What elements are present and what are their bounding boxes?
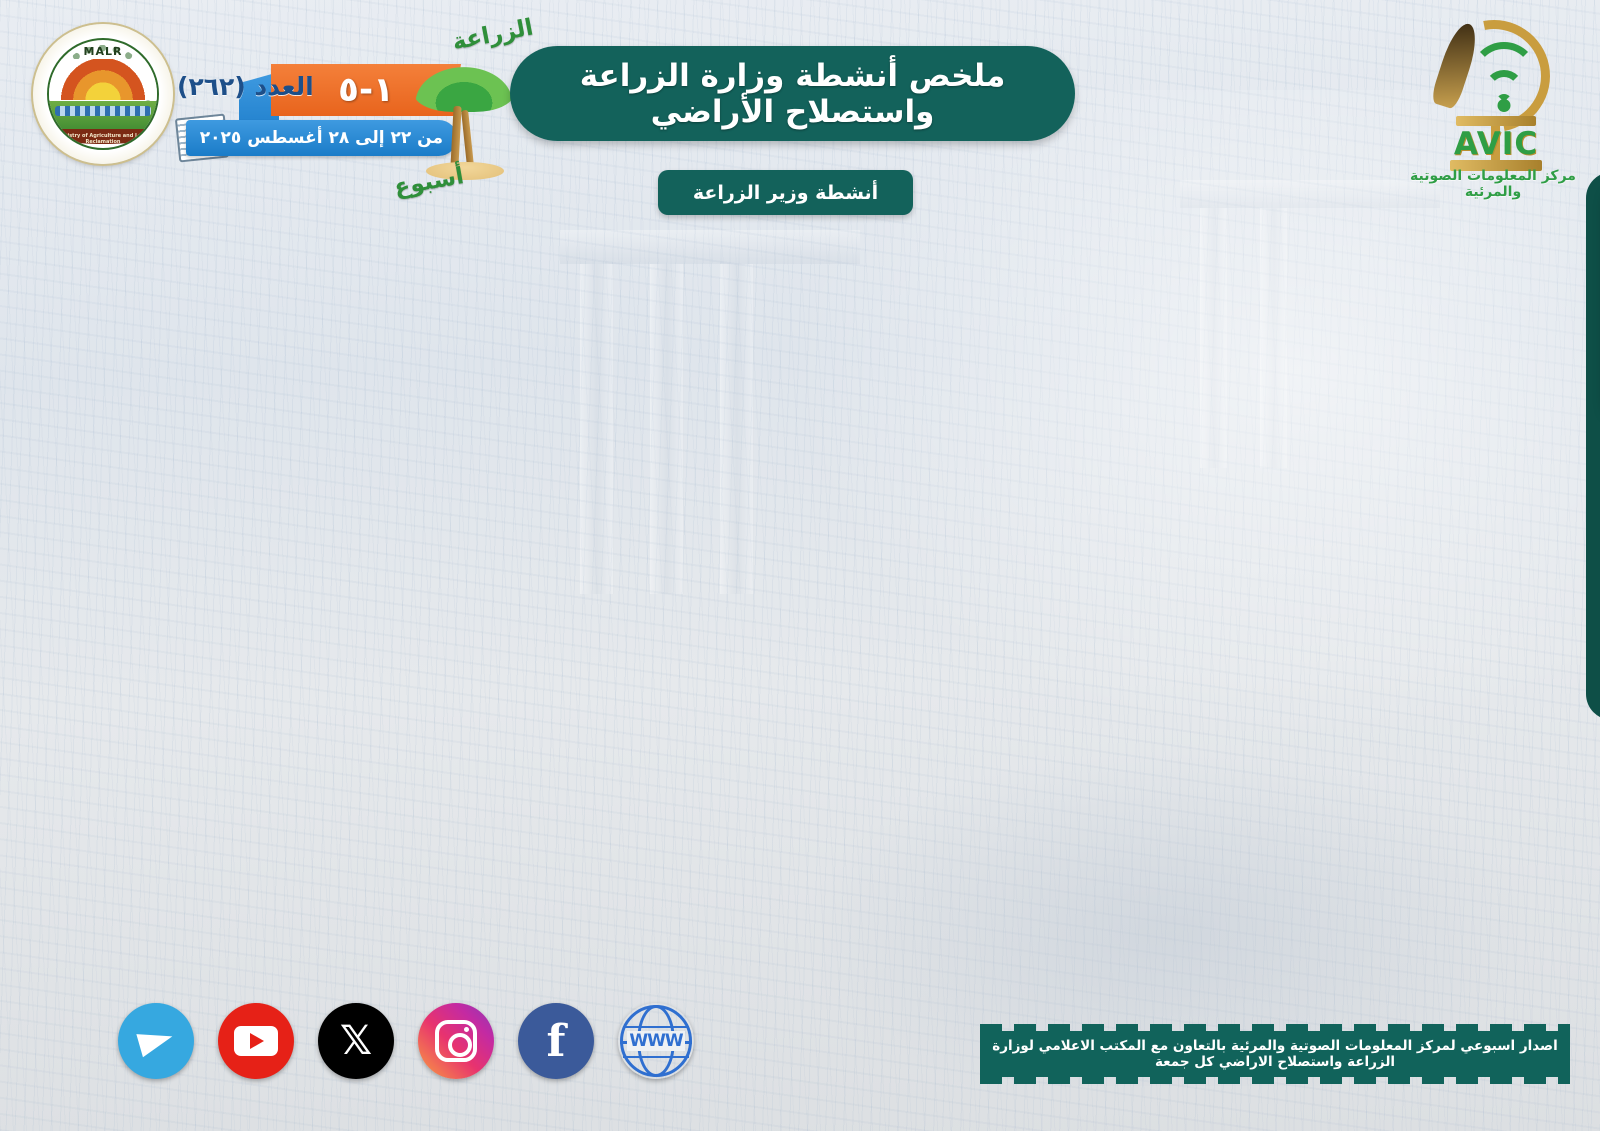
infographic-poster: MALR Ministry of Agriculture and Land Re…: [0, 0, 1600, 1131]
page-title-text: ملخص أنشطة وزارة الزراعة واستصلاح الأراض…: [510, 58, 1075, 130]
footer-note-text: اصدار اسبوعي لمركز المعلومات الصوتية وال…: [990, 1038, 1560, 1070]
facebook-icon-label: f: [547, 1016, 566, 1067]
youtube-icon[interactable]: [218, 1003, 294, 1079]
avic-subtitle: مركز المعلومات الصوتية والمرئية: [1398, 168, 1588, 200]
story-1-backdrop: [1586, 172, 1600, 720]
website-icon-label: WWW: [627, 1031, 684, 1051]
footer-note-bar: اصدار اسبوعي لمركز المعلومات الصوتية وال…: [980, 1031, 1570, 1077]
palm-tree-icon: الزراعة أسبوع: [398, 18, 528, 193]
instagram-icon[interactable]: [418, 1003, 494, 1079]
x-twitter-icon-label: 𝕏: [340, 1018, 372, 1064]
avic-name: AVIC: [1446, 126, 1546, 162]
website-icon[interactable]: WWW: [618, 1003, 694, 1079]
facebook-icon[interactable]: f: [518, 1003, 594, 1079]
ministry-seal-icon: MALR Ministry of Agriculture and Land Re…: [33, 24, 173, 164]
x-twitter-icon[interactable]: 𝕏: [318, 1003, 394, 1079]
section-subtitle-text: أنشطة وزير الزراعة: [693, 182, 878, 204]
telegram-icon[interactable]: [118, 1003, 194, 1079]
avic-broadcast-wheat-icon: AVIC مركز المعلومات الصوتية والمرئية: [1398, 8, 1588, 188]
section-subtitle: أنشطة وزير الزراعة: [658, 170, 913, 215]
palm-logo-word-top: الزراعة: [451, 14, 536, 55]
palm-logo-word-bottom: أسبوع: [392, 163, 465, 201]
social-links: WWW f 𝕏: [118, 1003, 694, 1079]
page-title: ملخص أنشطة وزارة الزراعة واستصلاح الأراض…: [510, 46, 1075, 141]
seal-acronym: MALR: [49, 45, 157, 58]
seal-bottom-text: Ministry of Agriculture and Land Reclama…: [49, 133, 157, 145]
